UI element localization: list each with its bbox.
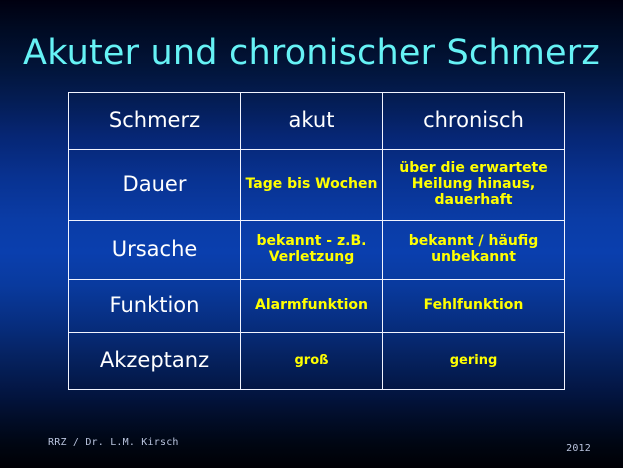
cell-dauer-chronic: über die erwartete Heilung hinaus, dauer… xyxy=(383,150,565,221)
footer-year: 2012 xyxy=(566,443,591,454)
header-cell-chronic: chronisch xyxy=(383,93,565,150)
cell-ursache-chronic: bekannt / häufig unbekannt xyxy=(383,221,565,280)
footer-author: RRZ / Dr. L.M. Kirsch xyxy=(48,437,179,448)
table-row: Funktion Alarmfunktion Fehlfunktion xyxy=(69,280,565,333)
header-cell-acute: akut xyxy=(241,93,383,150)
header-cell-label: Schmerz xyxy=(69,93,241,150)
cell-ursache-acute: bekannt - z.B. Verletzung xyxy=(241,221,383,280)
cell-akzeptanz-acute: groß xyxy=(241,333,383,390)
slide-canvas: Akuter und chronischer Schmerz Schmerz a… xyxy=(0,0,623,468)
page-title: Akuter und chronischer Schmerz xyxy=(0,33,623,73)
row-label-akzeptanz: Akzeptanz xyxy=(69,333,241,390)
table-row: Dauer Tage bis Wochen über die erwartete… xyxy=(69,150,565,221)
row-label-ursache: Ursache xyxy=(69,221,241,280)
row-label-funktion: Funktion xyxy=(69,280,241,333)
table-row: Akzeptanz groß gering xyxy=(69,333,565,390)
cell-funktion-chronic: Fehlfunktion xyxy=(383,280,565,333)
table-header-row: Schmerz akut chronisch xyxy=(69,93,565,150)
cell-funktion-acute: Alarmfunktion xyxy=(241,280,383,333)
pain-comparison-table: Schmerz akut chronisch Dauer Tage bis Wo… xyxy=(68,92,565,390)
cell-dauer-acute: Tage bis Wochen xyxy=(241,150,383,221)
row-label-dauer: Dauer xyxy=(69,150,241,221)
cell-akzeptanz-chronic: gering xyxy=(383,333,565,390)
table-row: Ursache bekannt - z.B. Verletzung bekann… xyxy=(69,221,565,280)
